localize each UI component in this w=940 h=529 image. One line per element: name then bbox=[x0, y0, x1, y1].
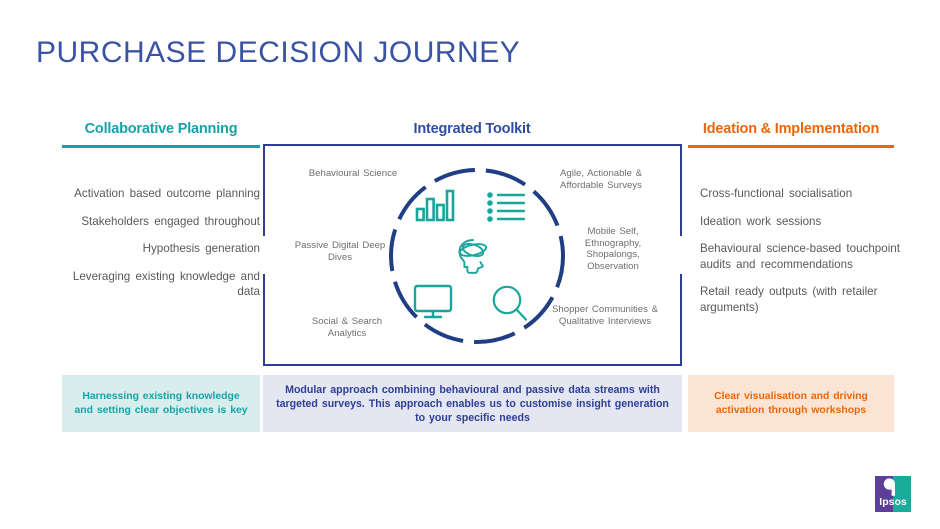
callout-integrated-toolkit: Modular approach combining behavioural a… bbox=[263, 375, 682, 432]
diagram-label-passive-digital-deep-dives: Passive Digital Deep Dives bbox=[285, 240, 395, 263]
diagram-label-mobile-ethnography: Mobile Self, Ethnography, Shopalongs, Ob… bbox=[565, 226, 661, 272]
list-item: Behavioural science-based touchpoint aud… bbox=[700, 241, 916, 272]
ideation-implementation-list: Cross-functional socialisation Ideation … bbox=[700, 186, 916, 327]
list-item: Stakeholders engaged throughout bbox=[56, 214, 260, 230]
list-item: Activation based outcome planning bbox=[56, 186, 260, 202]
callout-collaborative-planning: Harnessing existing knowledge and settin… bbox=[62, 375, 260, 432]
ipsos-logo-text: Ipsos bbox=[879, 496, 907, 508]
list-item: Cross-functional socialisation bbox=[700, 186, 916, 202]
list-item: Leveraging existing knowledge and data bbox=[56, 269, 260, 300]
slide-canvas: PURCHASE DECISION JOURNEY Collaborative … bbox=[0, 0, 940, 529]
toolkit-icon-grid bbox=[409, 188, 545, 326]
ipsos-logo: Ipsos bbox=[872, 473, 914, 515]
list-item: Retail ready outputs (with retailer argu… bbox=[700, 284, 916, 315]
column-header-integrated-toolkit: Integrated Toolkit bbox=[262, 121, 682, 137]
integrated-toolkit-diagram: Behavioural Science Passive Digital Deep… bbox=[263, 146, 682, 364]
callout-ideation-implementation: Clear visualisation and driving activati… bbox=[688, 375, 894, 432]
bullet-list-icon bbox=[487, 192, 525, 227]
diagram-label-social-search-analytics: Social & Search Analytics bbox=[295, 316, 399, 339]
bar-chart-icon bbox=[415, 188, 455, 227]
column-rule-left bbox=[62, 145, 260, 148]
head-brain-icon bbox=[449, 236, 495, 281]
list-item: Hypothesis generation bbox=[56, 241, 260, 257]
column-header-ideation-implementation: Ideation & Implementation bbox=[688, 121, 894, 137]
collaborative-planning-list: Activation based outcome planning Stakeh… bbox=[56, 186, 260, 312]
column-rule-right bbox=[688, 145, 894, 148]
monitor-icon bbox=[413, 284, 453, 325]
magnifier-icon bbox=[491, 284, 529, 327]
column-header-collaborative-planning: Collaborative Planning bbox=[62, 121, 260, 137]
page-title: PURCHASE DECISION JOURNEY bbox=[36, 36, 520, 70]
list-item: Ideation work sessions bbox=[700, 214, 916, 230]
toolkit-frame-bottom bbox=[263, 364, 682, 366]
